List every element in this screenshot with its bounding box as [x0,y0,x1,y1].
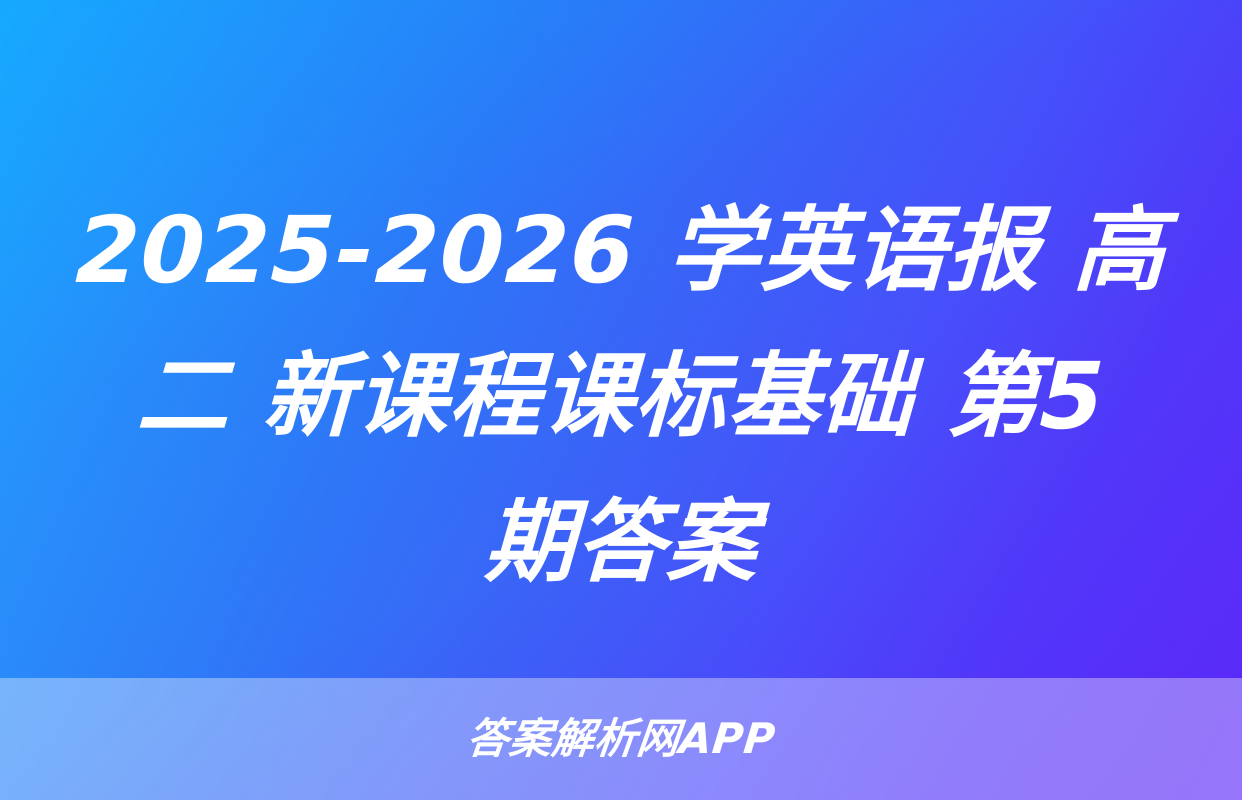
footer-watermark-band: 答案解析网APP [0,678,1242,800]
app-watermark-label: 答案解析网APP [465,718,777,760]
title-line-3: 期答案 [25,470,1216,616]
page-title: 2025-2026 学英语报 高 二 新课程课标基础 第5 期答案 [0,178,1242,616]
title-line-1: 2025-2026 学英语报 高 [25,178,1216,324]
answer-card: 2025-2026 学英语报 高 二 新课程课标基础 第5 期答案 答案解析网A… [0,0,1242,800]
title-line-2: 二 新课程课标基础 第5 [25,324,1216,470]
